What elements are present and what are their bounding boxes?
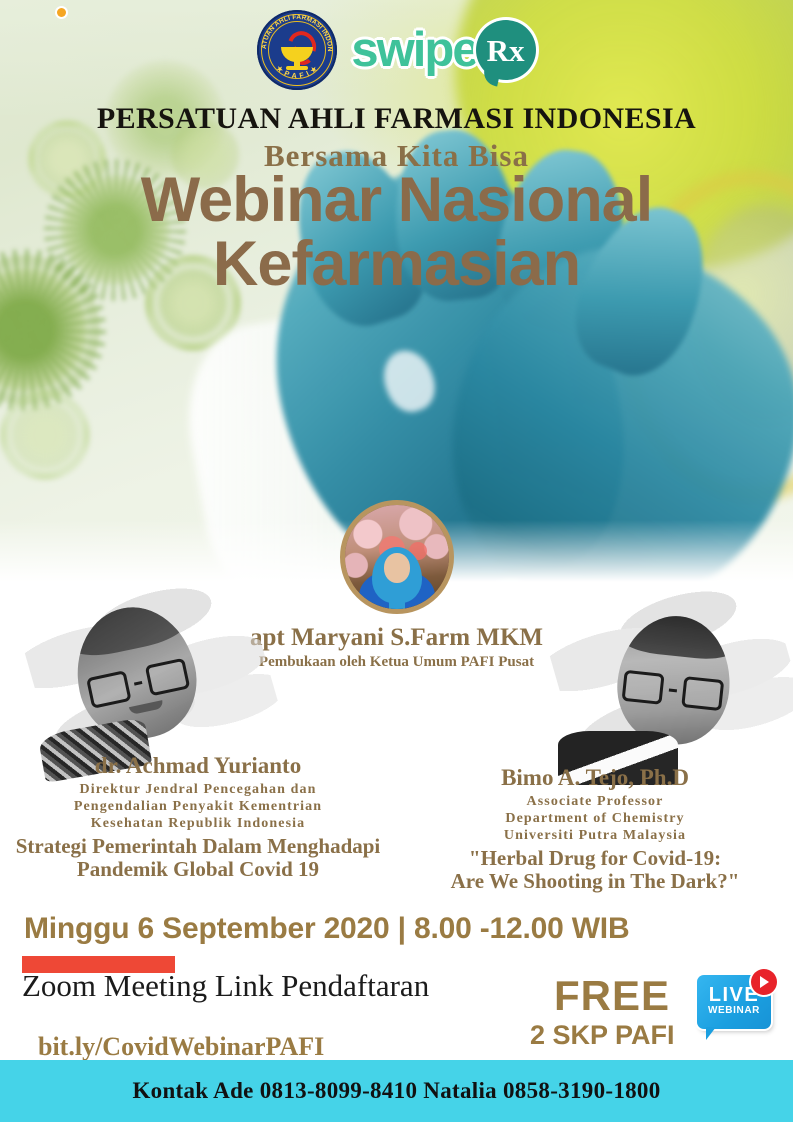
speaker-affiliation: Direktur Jendral Pencegahan dan Pengenda… [0, 781, 398, 832]
glasses-bridge [669, 688, 677, 692]
glasses-icon [622, 670, 725, 711]
speaker-topic: "Herbal Drug for Covid-19: Are We Shooti… [395, 847, 793, 894]
swipe-dot-icon [57, 8, 66, 17]
glasses-lens [145, 657, 191, 696]
glasses-bridge [134, 681, 142, 686]
main-title-line1: Webinar Nasional [141, 165, 652, 235]
topic-line: Strategi Pemerintah Dalam Menghadapi [0, 835, 398, 859]
affiliation-line: Department of Chemistry [395, 810, 793, 827]
live-webinar-badge: LIVE WEBINAR [697, 975, 773, 1037]
glasses-lens [86, 670, 132, 709]
glasses-lens [681, 676, 724, 711]
bowl-base [286, 66, 308, 70]
affiliation-line: Direktur Jendral Pencegahan dan [0, 781, 398, 798]
play-button-icon [751, 969, 777, 995]
rx-label: Rx [487, 35, 525, 66]
pafi-logo: PERSATUAN AHLI FARMASI INDONESIA ★ P A F… [257, 10, 337, 90]
speaker-photo-right [560, 588, 790, 763]
swipe-wordmark: swipe [351, 26, 477, 75]
bowl-of-hygieia-icon [278, 35, 316, 69]
registration-link[interactable]: bit.ly/CovidWebinarPAFI [38, 1032, 324, 1062]
registration-label: Zoom Meeting Link Pendaftaran [22, 968, 429, 1004]
center-speaker-avatar [340, 500, 454, 614]
speaker-photo-left [35, 585, 265, 760]
affiliation-line: Kesehatan Republik Indonesia [0, 815, 398, 832]
affiliation-line: Associate Professor [395, 793, 793, 810]
price-free-label: FREE [554, 972, 670, 1020]
speaker-block-left: dr. Achmad Yurianto Direktur Jendral Pen… [0, 753, 398, 882]
topic-line: Are We Shooting in The Dark?" [395, 870, 793, 894]
footer-contact-text: Kontak Ade 0813-8099-8410 Natalia 0858-3… [132, 1078, 660, 1104]
main-title: Webinar Nasional Kefarmasian [0, 168, 793, 297]
glasses-icon [86, 657, 190, 708]
speaker-name: Bimo A. Tejo, Ph.D [395, 765, 793, 790]
logo-row: PERSATUAN AHLI FARMASI INDONESIA ★ P A F… [0, 6, 793, 94]
topic-line: "Herbal Drug for Covid-19: [395, 847, 793, 871]
topic-line: Pandemik Global Covid 19 [0, 858, 398, 882]
virus-particle-icon [0, 390, 90, 480]
skp-credits-label: 2 SKP PAFI [530, 1020, 675, 1051]
event-date-time: Minggu 6 September 2020 | 8.00 -12.00 WI… [24, 912, 629, 946]
speaker-block-right: Bimo A. Tejo, Ph.D Associate Professor D… [395, 765, 793, 894]
webinar-label: WEBINAR [697, 1006, 771, 1016]
main-title-line2: Kefarmasian [0, 232, 793, 296]
affiliation-line: Universiti Putra Malaysia [395, 827, 793, 844]
footer-contact-bar: Kontak Ade 0813-8099-8410 Natalia 0858-3… [0, 1060, 793, 1122]
speaker-name: dr. Achmad Yurianto [0, 753, 398, 778]
speaker-topic: Strategi Pemerintah Dalam Menghadapi Pan… [0, 835, 398, 882]
organization-title: PERSATUAN AHLI FARMASI INDONESIA [0, 102, 793, 136]
affiliation-line: Pengendalian Penyakit Kementrian [0, 798, 398, 815]
rx-speech-bubble-icon: Rx [476, 20, 536, 80]
mouth [129, 700, 164, 715]
webinar-poster: PERSATUAN AHLI FARMASI INDONESIA ★ P A F… [0, 0, 793, 1122]
swiperx-logo: swipe Rx [351, 20, 535, 80]
speaker-affiliation: Associate Professor Department of Chemis… [395, 793, 793, 844]
avatar-face [384, 553, 410, 583]
glasses-lens [622, 670, 665, 705]
